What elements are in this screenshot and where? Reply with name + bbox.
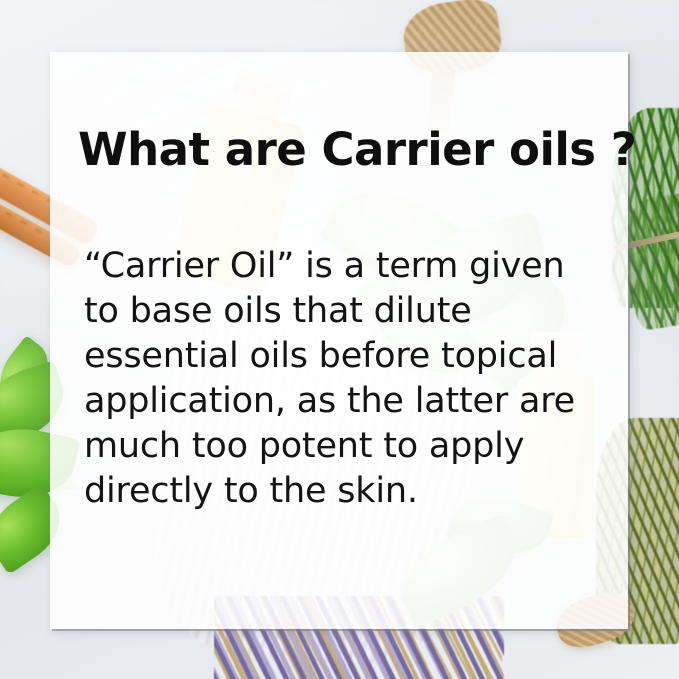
body-line: application, as the latter are	[84, 379, 604, 424]
body-line: to base oils that dilute	[84, 289, 604, 334]
page-title: What are Carrier oils ?	[78, 124, 604, 176]
body-line: much too potent to apply	[84, 424, 604, 469]
infographic-canvas: What are Carrier oils ? “Carrier Oil” is…	[0, 0, 679, 679]
body-line: essential oils before topical	[84, 334, 604, 379]
body-paragraph: “Carrier Oil” is a term given to base oi…	[84, 244, 604, 514]
text-block: What are Carrier oils ? “Carrier Oil” is…	[78, 124, 604, 514]
content-card: What are Carrier oils ? “Carrier Oil” is…	[50, 52, 628, 629]
body-line: directly to the skin.	[84, 469, 604, 514]
body-line: “Carrier Oil” is a term given	[84, 244, 604, 289]
